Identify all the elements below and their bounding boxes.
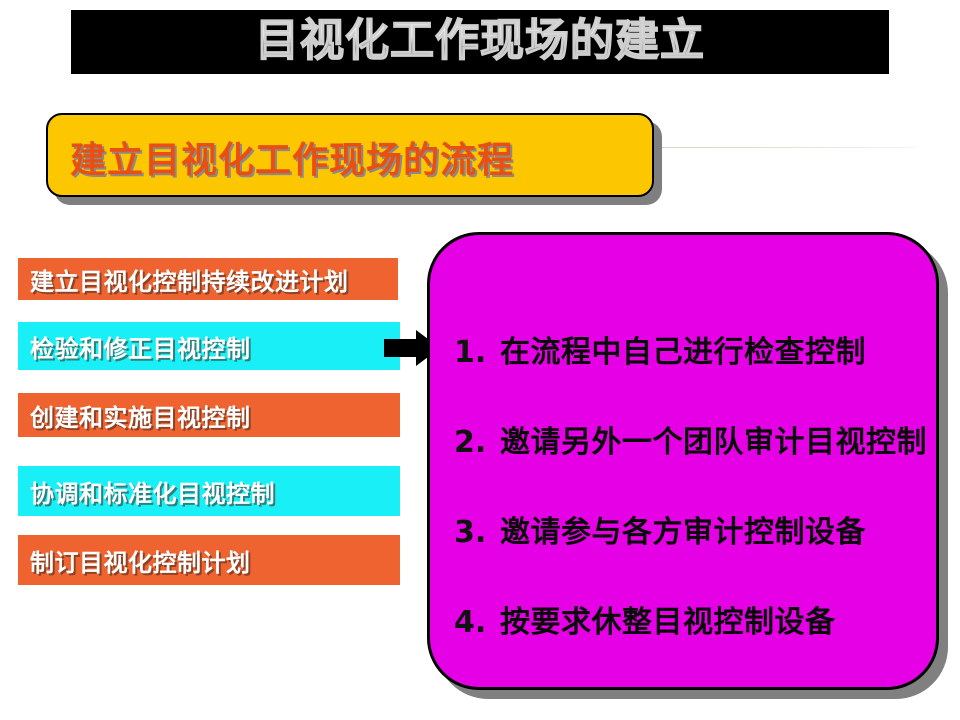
process-step-label: 协调和标准化目视控制: [18, 474, 275, 509]
process-step-label: 检验和修正目视控制: [18, 329, 251, 364]
detail-list-item-text: 邀请参与各方审计控制设备: [500, 507, 866, 551]
detail-list-item-text: 按要求休整目视控制设备: [500, 597, 836, 641]
section-banner-label: 建立目视化工作现场的流程: [70, 131, 514, 183]
detail-panel: 1.在流程中自己进行检查控制2.邀请另外一个团队审计目视控制3.邀请参与各方审计…: [427, 232, 939, 690]
slide-title-outline: 目视化工作现场的建立: [71, 10, 889, 74]
detail-list-item-number: 3.: [454, 515, 500, 550]
detail-list-item: 3.邀请参与各方审计控制设备: [454, 507, 960, 551]
process-step-label: 制订目视化控制计划: [18, 543, 251, 578]
process-step-4[interactable]: 协调和标准化目视控制: [18, 466, 400, 516]
detail-list-item-number: 2.: [454, 425, 500, 460]
title-bar: 目视化工作现场的建立 目视化工作现场的建立: [71, 10, 889, 74]
process-step-label: 建立目视化控制持续改进计划: [18, 262, 349, 297]
detail-list-item-number: 4.: [454, 605, 500, 640]
header-rule: [660, 147, 916, 148]
section-banner: 建立目视化工作现场的流程: [46, 113, 654, 197]
process-step-3[interactable]: 创建和实施目视控制: [18, 393, 400, 437]
detail-list-item-text: 在流程中自己进行检查控制: [500, 327, 866, 371]
detail-list-item: 4.按要求休整目视控制设备: [454, 597, 960, 641]
detail-list-item: 2.邀请另外一个团队审计目视控制: [454, 417, 960, 461]
process-step-5[interactable]: 制订目视化控制计划: [18, 535, 400, 585]
process-step-label: 创建和实施目视控制: [18, 398, 251, 433]
slide-canvas: 目视化工作现场的建立 目视化工作现场的建立 建立目视化工作现场的流程 建立目视化…: [0, 0, 960, 720]
process-step-1[interactable]: 建立目视化控制持续改进计划: [18, 258, 398, 300]
process-step-2[interactable]: 检验和修正目视控制: [18, 322, 400, 370]
detail-list-item: 1.在流程中自己进行检查控制: [454, 327, 960, 371]
detail-list-item-text: 邀请另外一个团队审计目视控制: [500, 417, 927, 461]
detail-list-item-number: 1.: [454, 335, 500, 370]
detail-panel-list: 1.在流程中自己进行检查控制2.邀请另外一个团队审计目视控制3.邀请参与各方审计…: [454, 327, 960, 687]
